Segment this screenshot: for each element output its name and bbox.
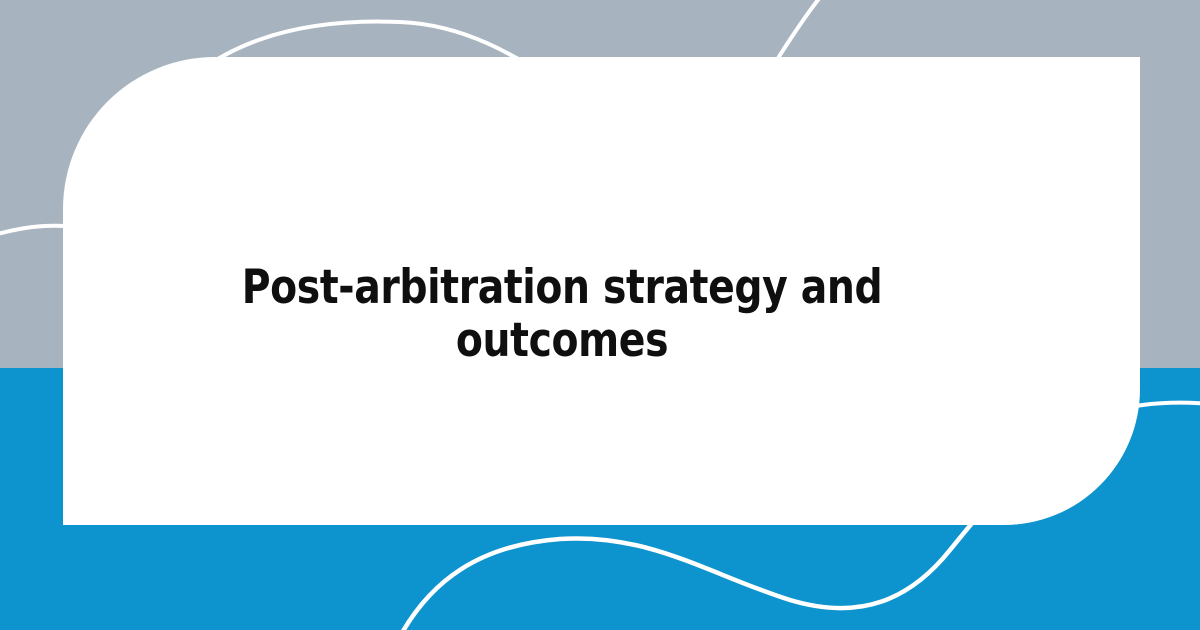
page-title: Post-arbitration strategy and outcomes [212, 262, 912, 367]
slide-canvas: Post-arbitration strategy and outcomes [0, 0, 1200, 630]
page-title-text: Post-arbitration strategy and outcomes [237, 262, 888, 367]
